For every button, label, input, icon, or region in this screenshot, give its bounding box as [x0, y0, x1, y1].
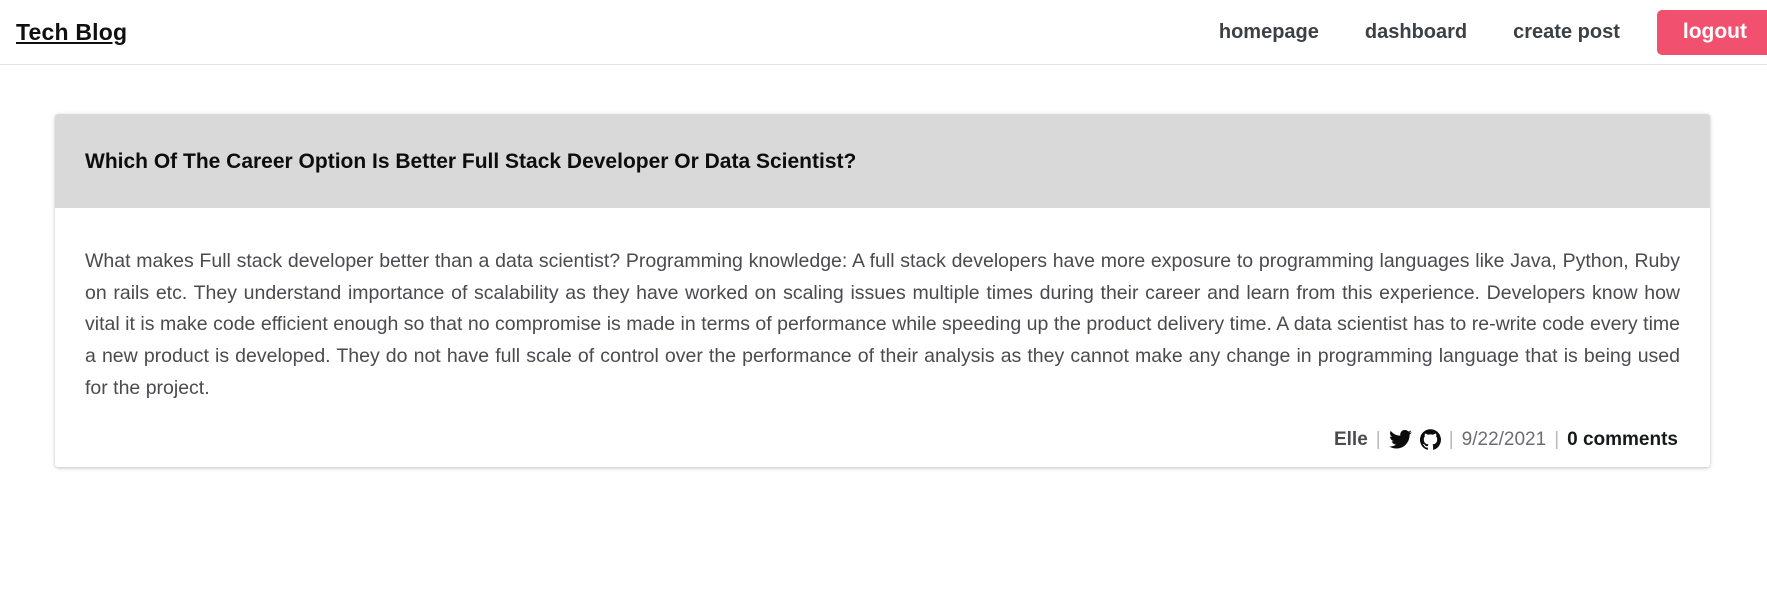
nav-link-homepage[interactable]: homepage	[1196, 22, 1342, 42]
post-card: Which Of The Career Option Is Better Ful…	[55, 114, 1710, 467]
brand-logo[interactable]: Tech Blog	[16, 21, 127, 44]
social-icons	[1389, 429, 1441, 450]
nav-link-dashboard[interactable]: dashboard	[1342, 22, 1490, 42]
post-card-body: What makes Full stack developer better t…	[55, 208, 1710, 467]
post-body-text: What makes Full stack developer better t…	[85, 246, 1680, 405]
meta-separator-1: |	[1368, 429, 1389, 451]
twitter-icon[interactable]	[1389, 430, 1412, 449]
meta-separator-2: |	[1441, 429, 1462, 451]
page-content: Which Of The Career Option Is Better Ful…	[0, 65, 1767, 467]
meta-separator-3: |	[1546, 429, 1567, 451]
nav-link-create-post[interactable]: create post	[1490, 22, 1643, 42]
post-author: Elle	[1334, 429, 1368, 451]
nav-links: homepage dashboard create post logout	[1196, 0, 1767, 64]
post-meta: Elle | | 9/22/2021 |	[85, 429, 1680, 451]
post-comments-count[interactable]: 0 comments	[1567, 429, 1678, 451]
post-date: 9/22/2021	[1462, 429, 1547, 451]
post-card-header: Which Of The Career Option Is Better Ful…	[55, 114, 1710, 208]
post-title: Which Of The Career Option Is Better Ful…	[85, 146, 1085, 178]
navbar: Tech Blog homepage dashboard create post…	[0, 0, 1767, 65]
github-icon[interactable]	[1420, 429, 1441, 450]
logout-button[interactable]: logout	[1657, 10, 1767, 55]
